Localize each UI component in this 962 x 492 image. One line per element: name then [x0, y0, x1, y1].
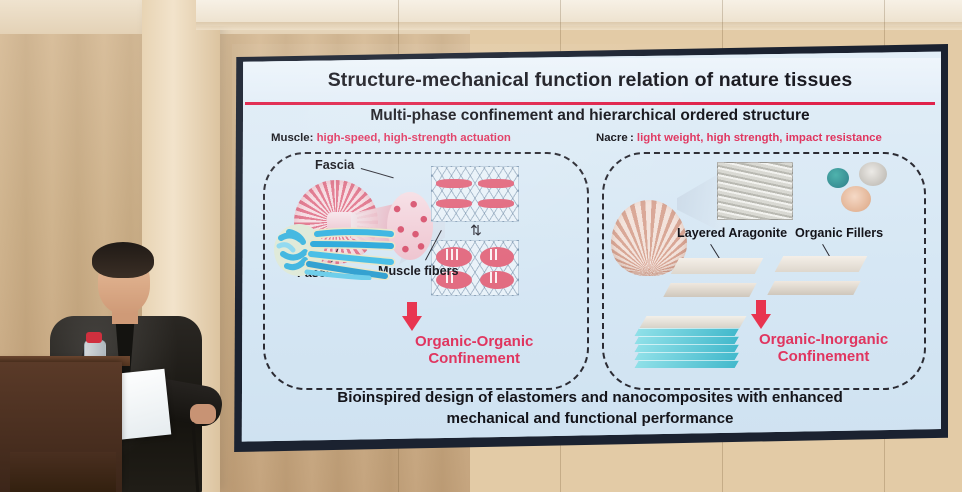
- layered-nanocomposite-image: [637, 322, 749, 374]
- water-bottle-cap: [86, 332, 102, 343]
- speaker-hair: [92, 242, 154, 278]
- lecture-room-photo: Structure-mechanical function relation o…: [0, 0, 962, 492]
- nacre-brick-mortar-b: [773, 256, 865, 296]
- slide-subtitle: Multi-phase confinement and hierarchical…: [239, 107, 941, 125]
- left-confinement-label: Organic-Organic Confinement: [415, 334, 533, 368]
- caption-muscle-value: high-speed, high-strength actuation: [317, 132, 511, 144]
- caption-nacre-key: Nacre :: [596, 132, 634, 144]
- sarcomere-relaxed-diagram: [431, 166, 519, 222]
- aragonite-sem-image: [717, 162, 793, 220]
- title-divider-rule: [245, 102, 935, 105]
- down-arrow-right-icon: [751, 300, 771, 330]
- left-confinement-line2: Confinement: [415, 351, 533, 368]
- presentation-slide: Structure-mechanical function relation o…: [239, 50, 941, 444]
- nacre-brick-mortar-a: [669, 258, 761, 298]
- conclusion-line2: mechanical and functional performance: [251, 409, 929, 430]
- slide-title: Structure-mechanical function relation o…: [328, 69, 853, 92]
- caption-nacre: Nacre : light weight, high strength, imp…: [596, 132, 882, 144]
- synthetic-fiber-bundle-image: [273, 220, 405, 280]
- label-fascia: Fascia: [315, 158, 354, 172]
- label-organic-fillers: Organic Fillers: [795, 226, 883, 240]
- ceiling-edge: [196, 22, 962, 30]
- right-confinement-line2: Confinement: [759, 349, 888, 366]
- organic-filler-particles-image: [825, 160, 905, 220]
- caption-nacre-value: light weight, high strength, impact resi…: [637, 132, 882, 144]
- podium-base: [10, 452, 116, 492]
- label-layered-aragonite: Layered Aragonite: [677, 226, 787, 240]
- slide-conclusion: Bioinspired design of elastomers and nan…: [251, 388, 929, 429]
- speaker-hand: [190, 404, 216, 424]
- caption-muscle-key: Muscle:: [271, 132, 313, 144]
- left-confinement-line1: Organic-Organic: [415, 334, 533, 351]
- contraction-arrows-icon: ⇅: [467, 222, 485, 238]
- caption-muscle: Muscle: high-speed, high-strength actuat…: [271, 132, 511, 144]
- projection-screen: Structure-mechanical function relation o…: [239, 50, 941, 444]
- conclusion-line1: Bioinspired design of elastomers and nan…: [251, 388, 929, 409]
- right-confinement-label: Organic-Inorganic Confinement: [759, 332, 888, 366]
- caption-row: Muscle: high-speed, high-strength actuat…: [239, 132, 941, 150]
- down-arrow-left-icon: [402, 302, 422, 332]
- right-confinement-line1: Organic-Inorganic: [759, 332, 888, 349]
- slide-title-band: Structure-mechanical function relation o…: [239, 58, 941, 102]
